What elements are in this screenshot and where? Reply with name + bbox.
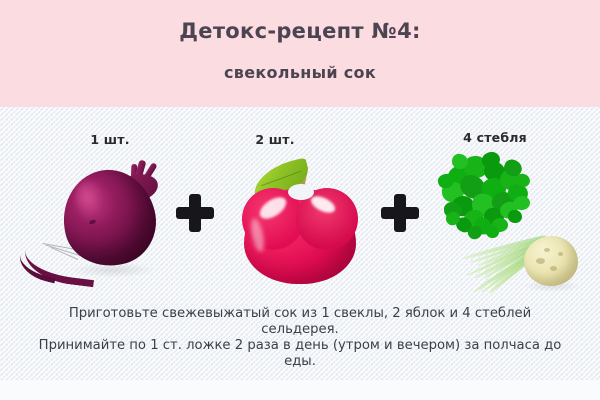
instructions-block: Приготовьте свежевыжатый сок из 1 свеклы…: [30, 306, 570, 370]
celeriac-spot: [558, 252, 563, 256]
apple-icon: [236, 160, 366, 288]
instruction-line-2: Принимайте по 1 ст. ложке 2 раза в день …: [30, 338, 570, 370]
quantity-label-celery: 4 стебля: [430, 130, 560, 145]
header-band: Детокс-рецепт №4: свекольный сок: [0, 0, 600, 107]
celeriac-spot: [536, 258, 545, 264]
instruction-line-1: Приготовьте свежевыжатый сок из 1 свеклы…: [30, 306, 570, 338]
plus-sign-icon: [381, 194, 419, 232]
quantity-label-beet: 1 шт.: [60, 132, 160, 147]
celeriac-spot: [544, 248, 550, 252]
plus-vertical-bar: [394, 194, 406, 232]
celeriac-bulb: [524, 236, 578, 286]
apple-top-notch: [288, 184, 314, 200]
page-title: Детокс-рецепт №4:: [0, 19, 600, 43]
celery-leaf-cluster: [486, 225, 500, 238]
page-subtitle: свекольный сок: [0, 63, 600, 82]
plus-sign-icon: [176, 194, 214, 232]
bottom-band: [0, 380, 600, 400]
quantity-label-apple: 2 шт.: [225, 132, 325, 147]
plus-vertical-bar: [189, 194, 201, 232]
celery-leaf-cluster: [508, 210, 522, 223]
celery-root-icon: [438, 152, 594, 292]
detox-recipe-poster: Детокс-рецепт №4: свекольный сок 1 шт. 2…: [0, 0, 600, 400]
celery-leaves: [438, 152, 546, 238]
beetroot-icon: [18, 158, 183, 298]
celeriac-spot: [550, 266, 557, 271]
